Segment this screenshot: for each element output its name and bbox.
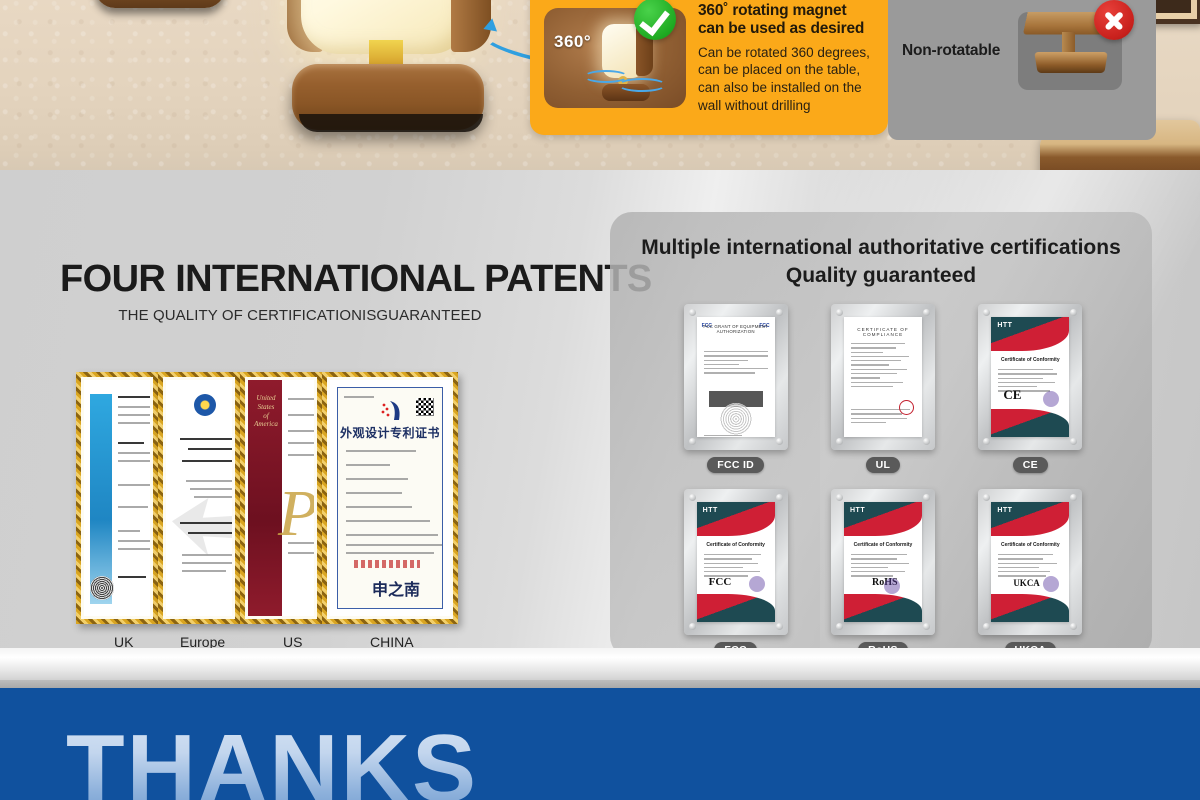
- certification-badge-label: FCC ID: [707, 457, 764, 473]
- doc-line: [118, 506, 148, 508]
- doc-line: [118, 540, 150, 542]
- thumb-fixed-base: [1034, 52, 1108, 73]
- qr-code-icon: [416, 398, 434, 416]
- certificate-document: [166, 380, 232, 616]
- callout-title-line1: 360˚ rotating magnet: [698, 2, 880, 20]
- htt-logo: HTT: [997, 322, 1012, 329]
- frame-stud-icon: [689, 494, 696, 501]
- patent-certificate-us[interactable]: UnitedStatesofAmerica P: [240, 372, 322, 624]
- htt-footer-graphic: [991, 594, 1069, 622]
- frame-stud-icon: [983, 623, 990, 630]
- doc-line: [118, 452, 150, 454]
- certificate-sheet: CERTIFICATE OF COMPLIANCE: [844, 317, 922, 437]
- top-product-scene: 360° 360˚ rotating magnet can be used as…: [0, 0, 1200, 170]
- doc-line: [288, 414, 314, 416]
- us-patent-watermark: P: [278, 476, 314, 552]
- certificate-sheet: HTT Certificate of Conformity FCC: [697, 502, 775, 622]
- doc-line: [186, 480, 232, 482]
- certification-item-fcc[interactable]: HTT Certificate of Conformity FCC FCC: [684, 489, 788, 658]
- rotation-ring-icon-b: [618, 78, 666, 92]
- official-seal-icon: [90, 576, 114, 600]
- doc-line: [346, 450, 416, 452]
- ukca-mark-icon: UKCA: [1013, 578, 1040, 588]
- frame-stud-icon: [923, 309, 930, 316]
- cn-red-stamp: [354, 560, 420, 568]
- acrylic-frame: HTT Certificate of Conformity FCC: [684, 489, 788, 635]
- certification-item-rohs[interactable]: HTT Certificate of Conformity RoHS RoHS: [831, 489, 935, 658]
- doc-line: [288, 454, 314, 456]
- frame-stud-icon: [836, 494, 843, 501]
- htt-footer-graphic: [844, 594, 922, 622]
- doc-line: [346, 506, 412, 508]
- lamp-product-secondary: [95, 0, 225, 12]
- doc-heading-line: [118, 396, 150, 398]
- patents-title: FOUR INTERNATIONAL PATENTS: [60, 258, 580, 301]
- doc-line: [346, 544, 442, 546]
- doc-line: [182, 554, 232, 556]
- doc-line: [346, 492, 402, 494]
- doc-line: [288, 442, 314, 444]
- lamp-base-shadow: [299, 114, 483, 132]
- cn-inner-border: 外观设计专利证书 申之南: [337, 387, 443, 609]
- doc-line: [118, 484, 150, 486]
- certificate-sheet: HTT Certificate of Conformity RoHS: [844, 502, 922, 622]
- cn-certificate-title: 外观设计专利证书: [338, 424, 442, 441]
- approval-stamp-icon: [884, 578, 900, 594]
- shelf-surface: [0, 648, 1200, 680]
- watermark-arrow: [172, 498, 232, 556]
- sheet-title: Certificate of Conformity: [844, 542, 922, 548]
- certification-badge-label: CE: [1013, 457, 1048, 473]
- certificate-sheet: HTT Certificate of Conformity CE: [991, 317, 1069, 437]
- certification-badge-label: UL: [866, 457, 901, 473]
- degrees-badge-label: 360°: [554, 32, 591, 52]
- frame-stud-icon: [923, 623, 930, 630]
- acrylic-frame: HTT Certificate of Conformity UKCA: [978, 489, 1082, 635]
- frame-stud-icon: [836, 309, 843, 316]
- doc-heading-line: [180, 522, 232, 524]
- frame-stud-icon: [776, 494, 783, 501]
- htt-logo: HTT: [997, 507, 1012, 514]
- uk-blue-band: [90, 394, 112, 604]
- certificate-sheet: FCC FCC FCC GRANT OF EQUIPMENT AUTHORIZA…: [697, 317, 775, 437]
- frame-stud-icon: [776, 438, 783, 445]
- sheet-body-lines: [704, 351, 768, 377]
- frame-stud-icon: [689, 438, 696, 445]
- callout-title-line2: can be used as desired: [698, 20, 880, 38]
- frame-stud-icon: [1070, 623, 1077, 630]
- sheet-title: CERTIFICATE OF COMPLIANCE: [844, 327, 922, 337]
- sheet-title: Certificate of Conformity: [697, 542, 775, 548]
- thanks-text: THANKS: [66, 714, 478, 800]
- frame-stud-icon: [923, 438, 930, 445]
- doc-heading-line: [188, 448, 232, 450]
- us-band-script: UnitedStatesofAmerica: [251, 394, 281, 429]
- htt-footer-graphic: [991, 409, 1069, 437]
- certifications-title-line2: Quality guaranteed: [610, 262, 1152, 290]
- doc-line: [346, 552, 434, 554]
- certification-item-fcc-id[interactable]: FCC FCC FCC GRANT OF EQUIPMENT AUTHORIZA…: [684, 304, 788, 473]
- doc-heading-line: [182, 460, 232, 462]
- doc-line: [288, 552, 314, 554]
- infographic-page: 360° 360˚ rotating magnet can be used as…: [0, 0, 1200, 800]
- cnipa-logo-icon: [376, 400, 404, 422]
- nonrotatable-label: Non-rotatable: [902, 42, 1000, 60]
- acrylic-frame: CERTIFICATE OF COMPLIANCE: [831, 304, 935, 450]
- frame-stud-icon: [776, 309, 783, 316]
- ul-mark-icon: [899, 400, 914, 415]
- doc-signature-line: [118, 576, 146, 578]
- certifications-panel: Multiple international authoritative cer…: [610, 212, 1152, 658]
- doc-line: [118, 460, 150, 462]
- lamp-product-primary: [265, 0, 515, 163]
- certification-item-ce[interactable]: HTT Certificate of Conformity CE CE: [978, 304, 1082, 473]
- eu-stars-icon: [194, 394, 216, 416]
- thanks-footer-banner: THANKS: [0, 688, 1200, 800]
- rotatable-callout-body: Can be rotated 360 degrees, can be place…: [698, 44, 880, 115]
- frame-stud-icon: [1070, 438, 1077, 445]
- certifications-grid: FCC FCC FCC GRANT OF EQUIPMENT AUTHORIZA…: [662, 304, 1104, 658]
- frame-stud-icon: [836, 623, 843, 630]
- sheet-body-lines: [851, 554, 915, 580]
- doc-line: [182, 562, 232, 564]
- htt-logo: HTT: [850, 507, 865, 514]
- sheet-title: FCC GRANT OF EQUIPMENT AUTHORIZATION: [697, 324, 775, 334]
- doc-line: [288, 430, 314, 432]
- frame-stud-icon: [983, 309, 990, 316]
- acrylic-frame: FCC FCC FCC GRANT OF EQUIPMENT AUTHORIZA…: [684, 304, 788, 450]
- doc-line: [344, 396, 374, 398]
- doc-line: [346, 464, 390, 466]
- lamp-base: [95, 0, 225, 8]
- fcc-mark-icon: FCC: [709, 576, 732, 588]
- red-x-icon: [1094, 0, 1134, 40]
- certification-item-ul[interactable]: CERTIFICATE OF COMPLIANCE UL: [831, 304, 935, 473]
- certificate-document: UnitedStatesofAmerica P: [248, 380, 314, 616]
- frame-stud-icon: [776, 623, 783, 630]
- certifications-title-line1: Multiple international authoritative cer…: [610, 234, 1152, 262]
- acrylic-frame: HTT Certificate of Conformity RoHS: [831, 489, 935, 635]
- approval-stamp-icon: [749, 576, 765, 592]
- ce-mark-icon: CE: [1003, 387, 1021, 403]
- doc-line: [118, 406, 150, 408]
- doc-line: [346, 534, 438, 536]
- doc-line: [118, 422, 150, 424]
- doc-line: [194, 496, 232, 498]
- doc-line: [346, 478, 408, 480]
- doc-line: [288, 542, 314, 544]
- patent-certificate-uk[interactable]: [76, 372, 158, 624]
- certificate-document: [84, 380, 150, 616]
- doc-heading-line: [188, 532, 232, 534]
- certifications-title: Multiple international authoritative cer…: [610, 234, 1152, 290]
- patent-certificate-china[interactable]: 外观设计专利证书 申之南: [322, 372, 458, 624]
- doc-heading-line: [180, 438, 232, 440]
- frame-stud-icon: [983, 438, 990, 445]
- frame-stud-icon: [1070, 494, 1077, 501]
- official-seal-icon: [720, 403, 752, 435]
- htt-footer-graphic: [697, 594, 775, 622]
- patents-heading-block: FOUR INTERNATIONAL PATENTS THE QUALITY O…: [60, 258, 580, 324]
- us-red-band: UnitedStatesofAmerica: [248, 380, 282, 616]
- doc-line: [182, 570, 226, 572]
- doc-line: [118, 414, 150, 416]
- frame-stud-icon: [689, 309, 696, 316]
- rotatable-callout-title: 360˚ rotating magnet can be used as desi…: [698, 2, 880, 39]
- doc-line: [118, 548, 150, 550]
- doc-line: [288, 398, 314, 400]
- approval-stamp-icon: [1043, 576, 1059, 592]
- sheet-footer-lines: [704, 435, 768, 437]
- sheet-title: Certificate of Conformity: [991, 357, 1069, 363]
- frame-stud-icon: [923, 494, 930, 501]
- certification-item-ukca[interactable]: HTT Certificate of Conformity UKCA UKCA: [978, 489, 1082, 658]
- approval-stamp-icon: [1043, 391, 1059, 407]
- certificate-document: 外观设计专利证书 申之南: [330, 380, 450, 616]
- frame-stud-icon: [1070, 309, 1077, 316]
- certificate-sheet: HTT Certificate of Conformity UKCA: [991, 502, 1069, 622]
- sheet-body-lines: [851, 343, 915, 390]
- patents-subtitle: THE QUALITY OF CERTIFICATIONISGUARANTEED: [60, 307, 580, 324]
- sheet-title: Certificate of Conformity: [991, 542, 1069, 548]
- frame-stud-icon: [836, 438, 843, 445]
- shelf-edge: [0, 680, 1200, 688]
- nonrotatable-callout-card: Non-rotatable: [888, 0, 1156, 140]
- rotatable-callout-text: 360˚ rotating magnet can be used as desi…: [698, 2, 880, 115]
- rotatable-callout-card: 360° 360˚ rotating magnet can be used as…: [530, 0, 888, 135]
- patent-certificate-row: UnitedStatesofAmerica P: [76, 372, 458, 624]
- frame-stud-icon: [983, 494, 990, 501]
- doc-line: [118, 442, 144, 444]
- green-check-icon: [634, 0, 676, 40]
- doc-line: [118, 530, 140, 532]
- htt-logo: HTT: [703, 507, 718, 514]
- frame-stud-icon: [689, 623, 696, 630]
- cn-signature: 申之南: [372, 576, 420, 600]
- patent-certificate-europe[interactable]: [158, 372, 240, 624]
- doc-line: [190, 488, 232, 490]
- acrylic-frame: HTT Certificate of Conformity CE: [978, 304, 1082, 450]
- doc-line: [346, 520, 430, 522]
